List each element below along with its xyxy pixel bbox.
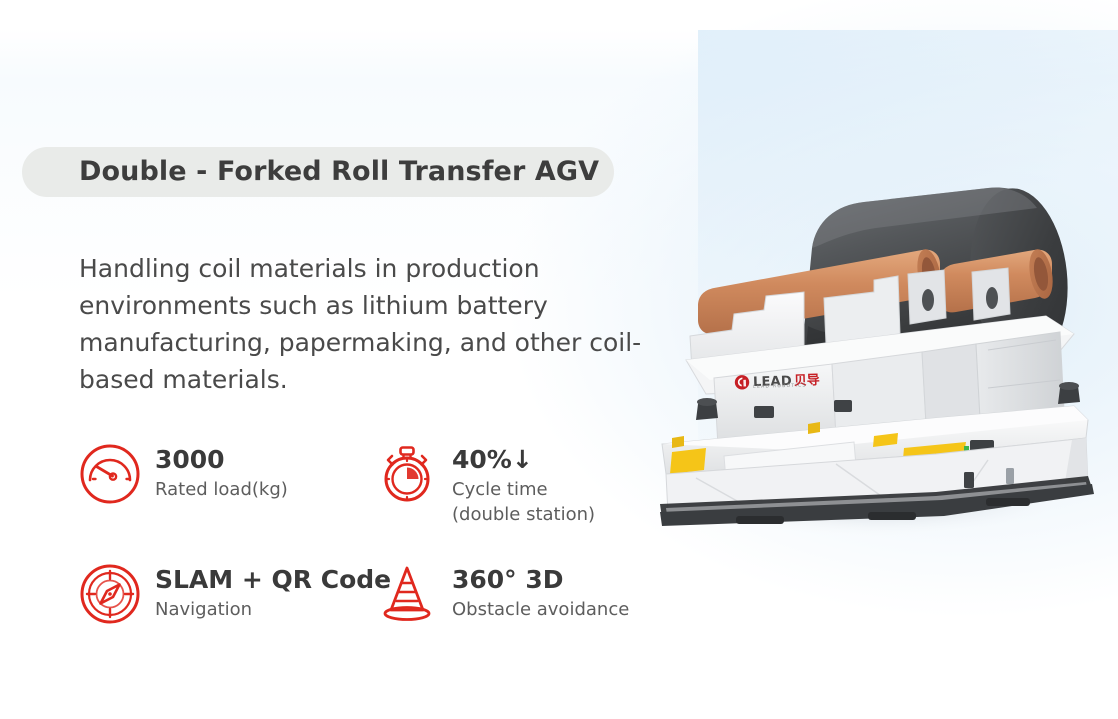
spec-item-obstacle-avoidance: 360° 3D Obstacle avoidance [376, 563, 629, 625]
spec-value: 3000 [155, 445, 288, 474]
spec-text-group: 360° 3D Obstacle avoidance [452, 563, 629, 622]
description-text: Handling coil materials in production en… [79, 250, 644, 398]
spec-text-group: 40%↓ Cycle time (double station) [452, 443, 595, 527]
spec-item-cycle-time: 40%↓ Cycle time (double station) [376, 443, 595, 527]
lead-logo-mark [734, 374, 750, 390]
spec-label: Rated load(kg) [155, 477, 288, 502]
spec-label-secondary: (double station) [452, 502, 595, 527]
spec-label: Navigation [155, 597, 391, 622]
spec-value: SLAM + QR Code [155, 565, 391, 594]
slide-root: Double - Forked Roll Transfer AGV Handli… [0, 0, 1118, 719]
spec-item-navigation: SLAM + QR Code Navigation [79, 563, 391, 625]
spec-label: Obstacle avoidance [452, 597, 629, 622]
spec-value: 40%↓ [452, 445, 595, 474]
compass-icon [79, 563, 141, 625]
spec-value: 360° 3D [452, 565, 629, 594]
stopwatch-icon [376, 443, 438, 505]
accent-yellow-left [670, 448, 706, 474]
spec-text-group: SLAM + QR Code Navigation [155, 563, 391, 622]
logo-tagline: LEAD ROBOTICS [753, 383, 807, 389]
spec-item-rated-load: 3000 Rated load(kg) [79, 443, 288, 505]
spec-text-group: 3000 Rated load(kg) [155, 443, 288, 502]
product-image-agv [636, 88, 1118, 558]
gauge-icon [79, 443, 141, 505]
brand-logo: LEAD 贝导 LEAD ROBOTICS [734, 368, 843, 393]
traffic-cone-icon [376, 563, 438, 625]
page-title: Double - Forked Roll Transfer AGV [79, 146, 619, 198]
spec-label: Cycle time [452, 477, 595, 502]
